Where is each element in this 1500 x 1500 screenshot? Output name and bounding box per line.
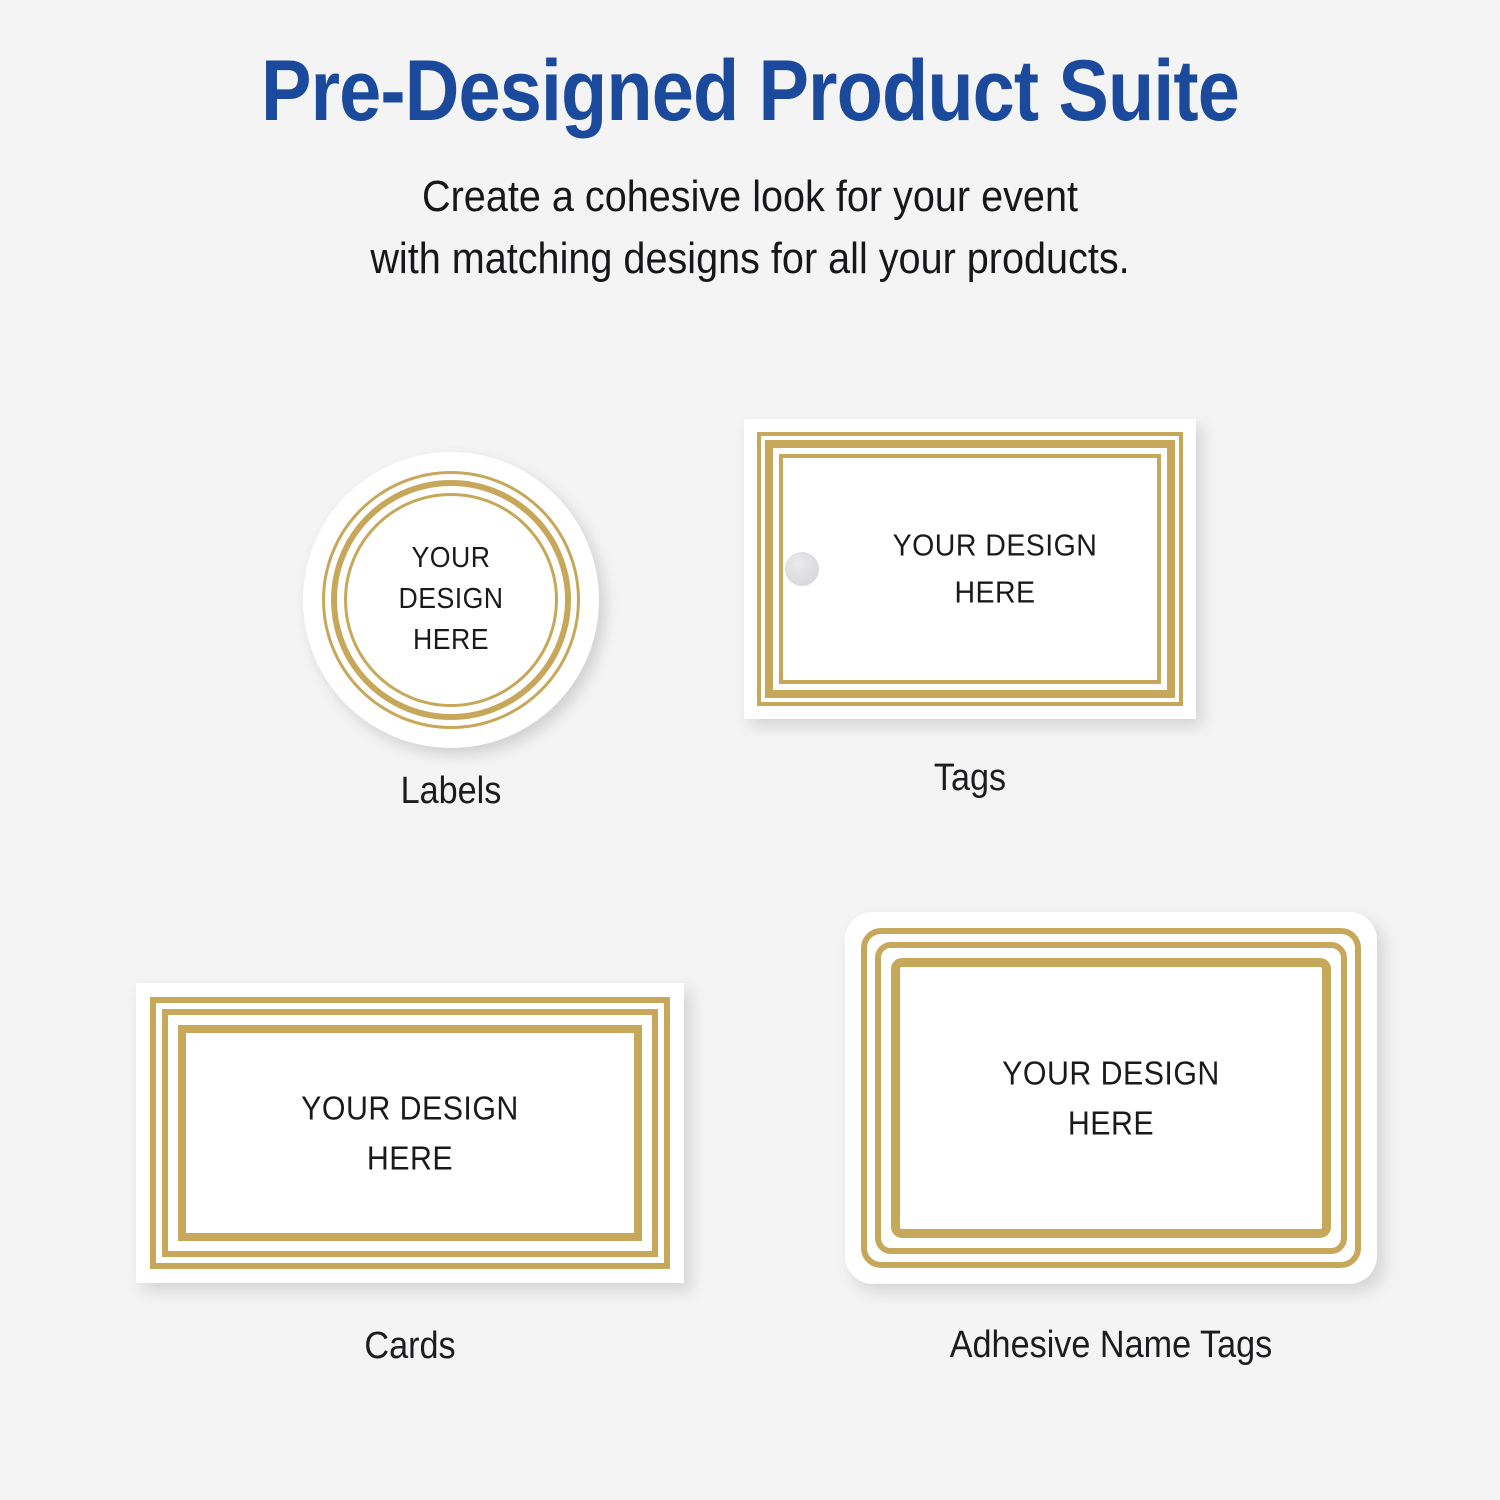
product-caption-adhesive-name-tags: Adhesive Name Tags [872, 1324, 1351, 1367]
product-caption-tags: Tags [767, 757, 1174, 800]
label-card-surface: YOUR DESIGN HERE [303, 452, 599, 748]
product-tags[interactable]: YOUR DESIGN HERE Tags [744, 419, 1196, 719]
product-caption-labels: Labels [318, 770, 584, 813]
design-line: HERE [810, 569, 1180, 616]
card-surface: YOUR DESIGN HERE [136, 983, 684, 1283]
tag-card-surface: YOUR DESIGN HERE [744, 419, 1196, 719]
subtitle-line-2: with matching designs for all your produ… [75, 228, 1425, 290]
product-labels[interactable]: YOUR DESIGN HERE Labels [303, 452, 599, 748]
nametag-card-surface: YOUR DESIGN HERE [845, 912, 1377, 1284]
header: Pre-Designed Product Suite Create a cohe… [0, 0, 1500, 291]
label-design-placeholder: YOUR DESIGN HERE [303, 538, 599, 662]
design-line: YOUR DESIGN [810, 523, 1180, 570]
design-line: HERE [158, 1133, 662, 1183]
design-line: YOUR DESIGN [158, 1084, 662, 1134]
design-line: DESIGN [315, 579, 587, 620]
product-suite-graphic: Pre-Designed Product Suite Create a cohe… [0, 0, 1500, 1500]
page-title: Pre-Designed Product Suite [90, 48, 1410, 134]
product-caption-cards: Cards [163, 1325, 656, 1368]
card-design-placeholder: YOUR DESIGN HERE [136, 1084, 684, 1183]
design-line: HERE [315, 621, 587, 662]
design-line: HERE [866, 1098, 1355, 1148]
product-adhesive-name-tags[interactable]: YOUR DESIGN HERE Adhesive Name Tags [845, 912, 1377, 1284]
tag-design-placeholder: YOUR DESIGN HERE [744, 523, 1196, 616]
subtitle-line-1: Create a cohesive look for your event [75, 166, 1425, 228]
product-cards[interactable]: YOUR DESIGN HERE Cards [136, 983, 684, 1283]
page-subtitle: Create a cohesive look for your event wi… [75, 166, 1425, 291]
design-line: YOUR DESIGN [866, 1049, 1355, 1099]
design-line: YOUR [315, 538, 587, 579]
nametag-design-placeholder: YOUR DESIGN HERE [845, 1049, 1377, 1148]
